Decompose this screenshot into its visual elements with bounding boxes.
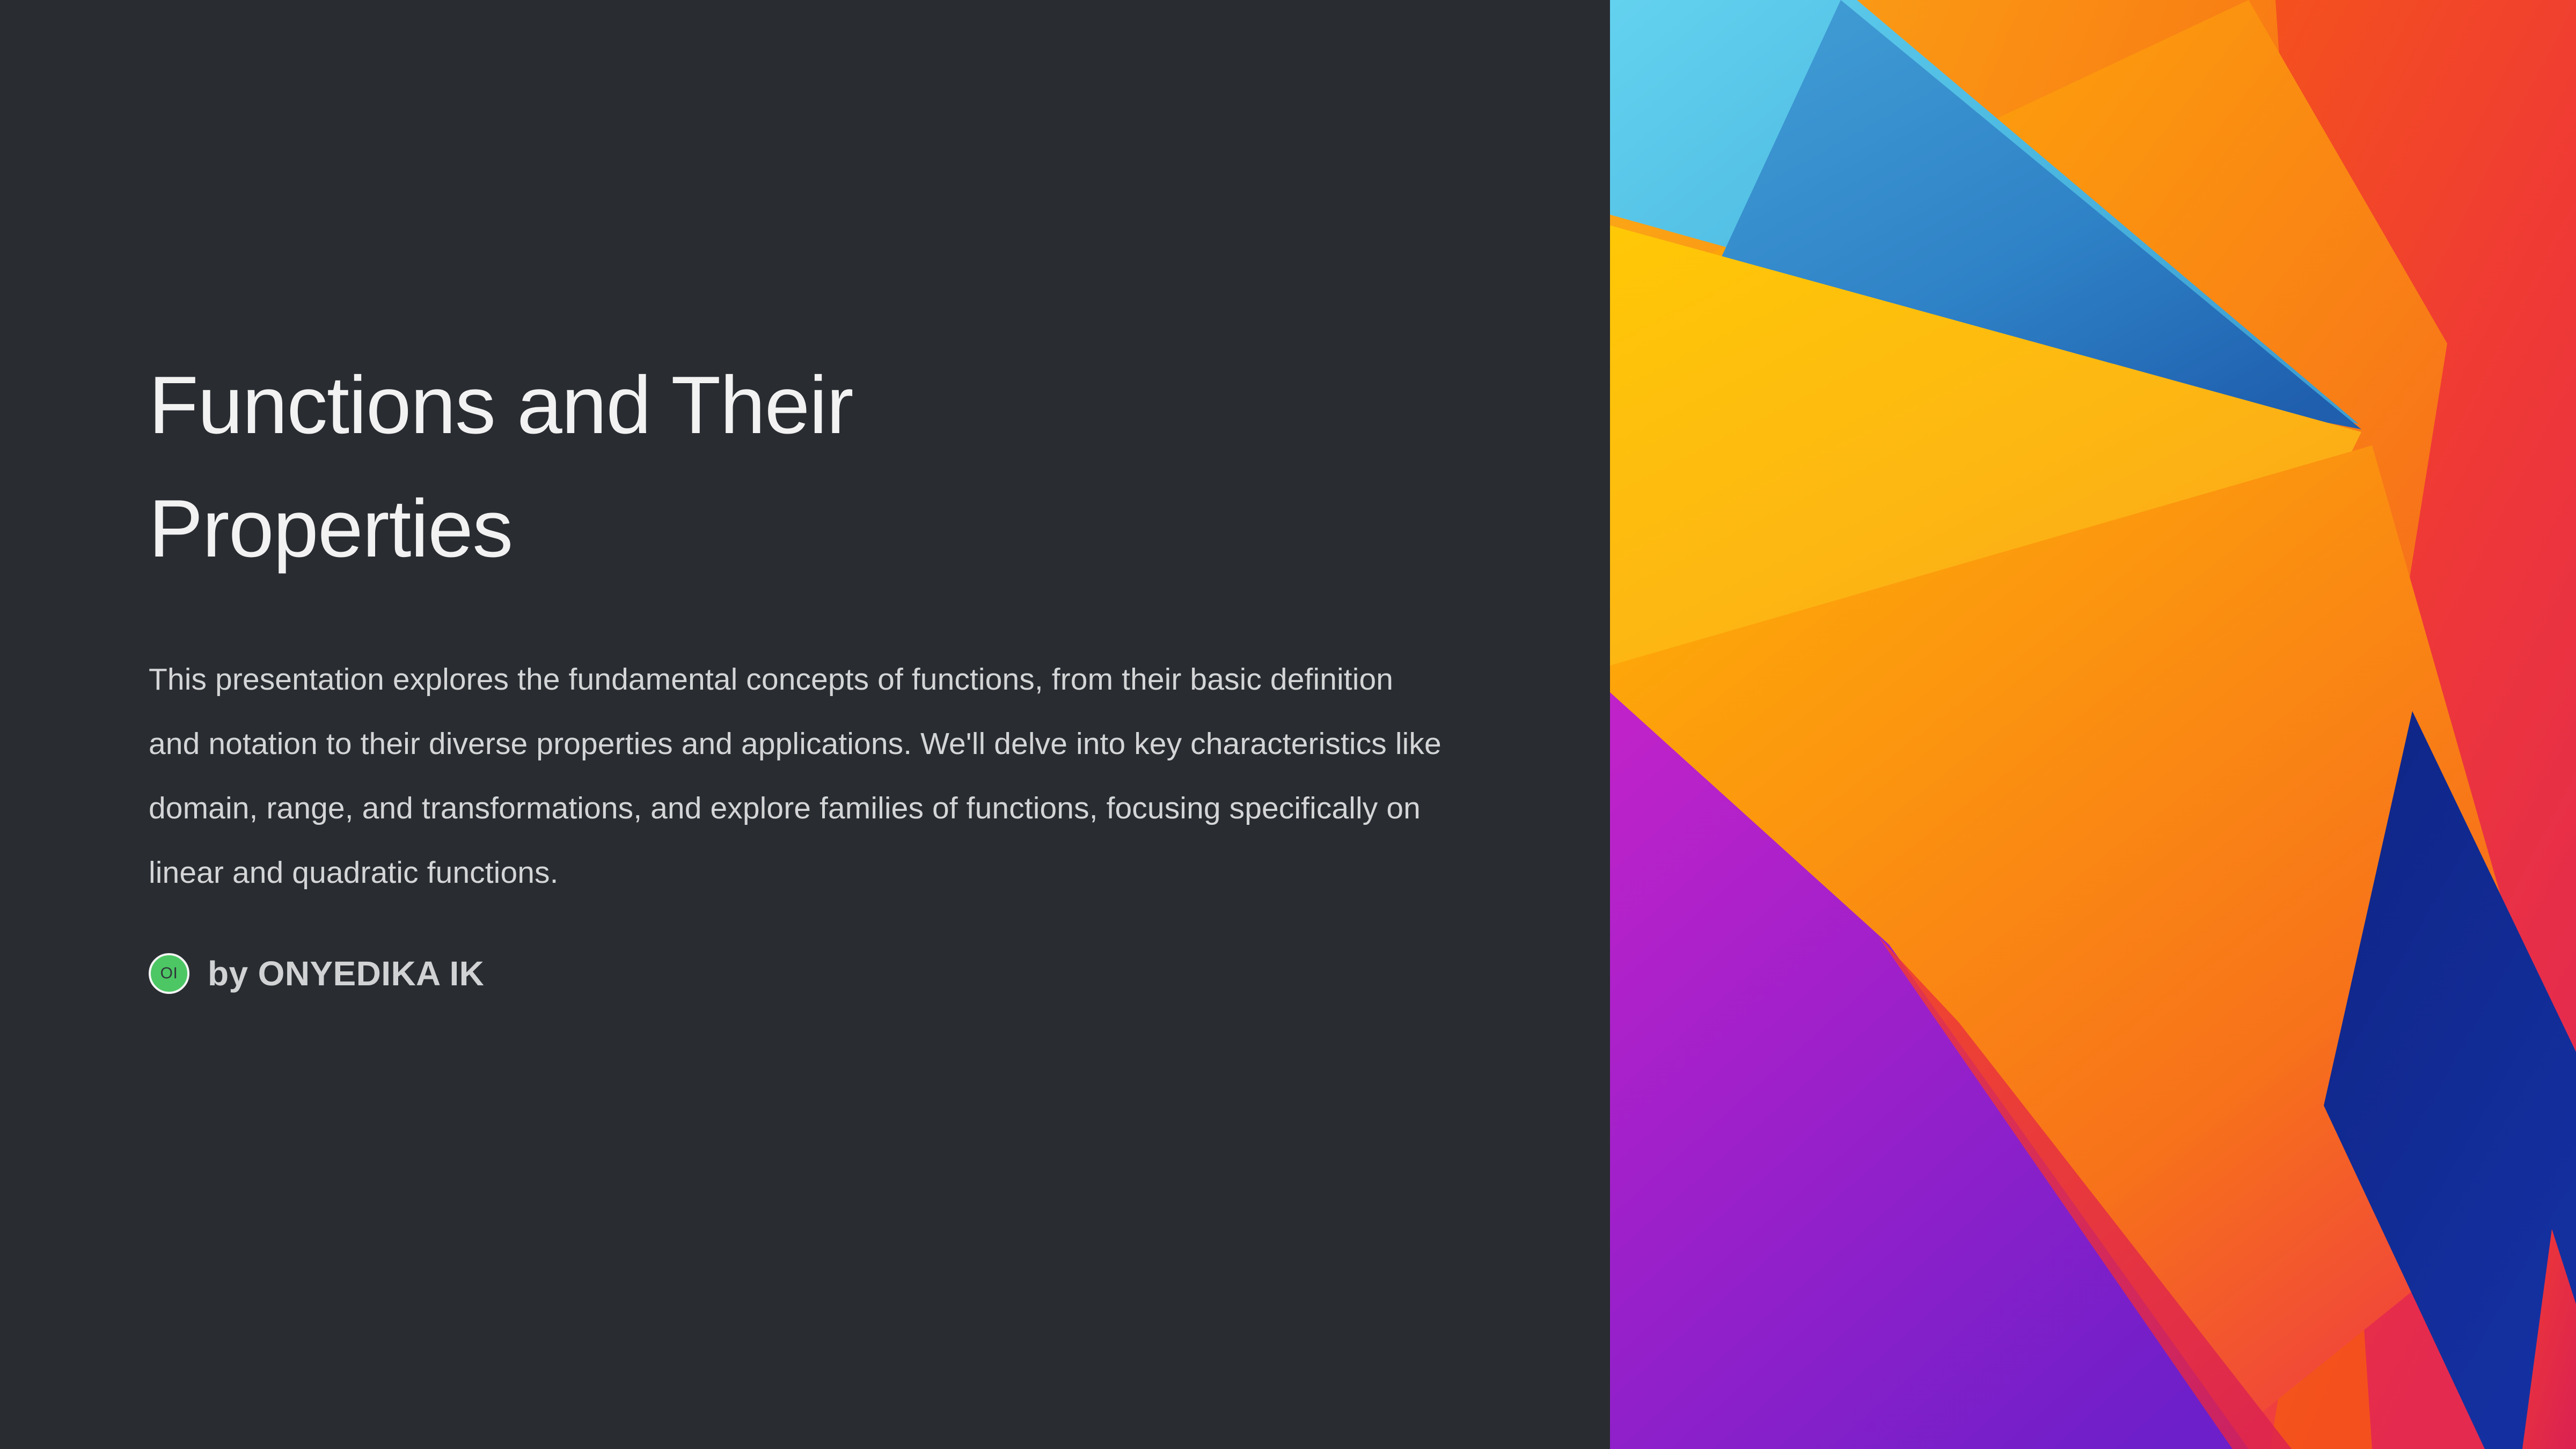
author-byline: OI by ONYEDIKA IK [149,953,1490,994]
avatar-initials: OI [160,965,178,982]
slide-text-panel: Functions and Their Properties This pres… [0,0,1610,1449]
author-name: by ONYEDIKA IK [208,954,484,993]
cover-image [1610,0,2576,1449]
presentation-slide: Functions and Their Properties This pres… [0,0,2576,1449]
slide-description: This presentation explores the fundament… [149,647,1450,905]
avatar: OI [149,953,189,994]
slide-content-block: Functions and Their Properties This pres… [149,343,1490,994]
abstract-gradient-artwork [1610,0,2576,1449]
page-title: Functions and Their Properties [149,343,1222,590]
